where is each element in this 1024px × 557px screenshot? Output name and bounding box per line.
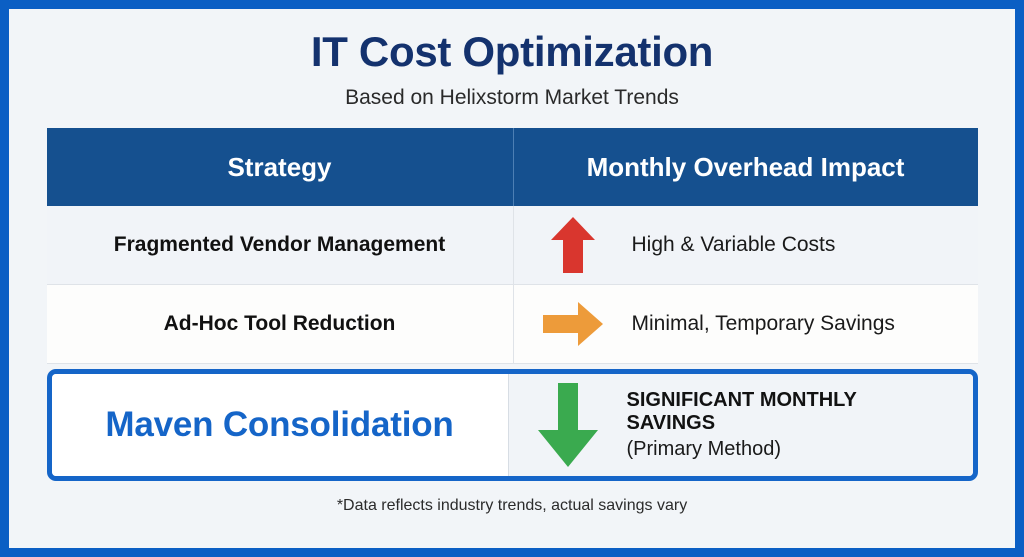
page-subtitle: Based on Helixstorm Market Trends <box>345 86 679 110</box>
row-cell-strategy: Fragmented Vendor Management <box>47 206 514 284</box>
header-cell-strategy: Strategy <box>47 128 514 206</box>
table-header-row: Strategy Monthly Overhead Impact <box>47 128 978 206</box>
impact-label: Minimal, Temporary Savings <box>632 312 895 336</box>
page-title: IT Cost Optimization <box>311 30 713 74</box>
impact-label: SIGNIFICANT MONTHLY SAVINGS <box>627 389 927 436</box>
table-row-highlighted: Maven Consolidation SIGNIFICANT MONTHLY … <box>47 369 978 481</box>
table-row: Ad-Hoc Tool Reduction Minimal, Temporary… <box>47 285 978 364</box>
row-cell-impact: SIGNIFICANT MONTHLY SAVINGS (Primary Met… <box>509 374 973 476</box>
arrow-down-icon <box>509 382 627 468</box>
strategy-label: Maven Consolidation <box>105 405 453 445</box>
table-row: Fragmented Vendor Management High & Vari… <box>47 206 978 285</box>
header-label-strategy: Strategy <box>227 152 331 183</box>
header-cell-impact: Monthly Overhead Impact <box>514 128 978 206</box>
strategy-label: Fragmented Vendor Management <box>114 233 445 257</box>
row-cell-strategy: Maven Consolidation <box>52 374 509 476</box>
impact-label: High & Variable Costs <box>632 233 836 257</box>
footnote: *Data reflects industry trends, actual s… <box>337 497 687 515</box>
impact-text-stack: SIGNIFICANT MONTHLY SAVINGS (Primary Met… <box>627 389 927 462</box>
row-cell-impact: Minimal, Temporary Savings <box>514 285 978 363</box>
impact-sublabel: (Primary Method) <box>627 438 927 462</box>
row-cell-strategy: Ad-Hoc Tool Reduction <box>47 285 514 363</box>
comparison-table: Strategy Monthly Overhead Impact Fragmen… <box>47 128 978 481</box>
strategy-label: Ad-Hoc Tool Reduction <box>164 312 396 336</box>
header-label-impact: Monthly Overhead Impact <box>587 152 905 183</box>
row-cell-impact: High & Variable Costs <box>514 206 978 284</box>
infographic-card: IT Cost Optimization Based on Helixstorm… <box>9 9 1015 548</box>
arrow-right-icon <box>514 301 632 347</box>
arrow-up-icon <box>514 216 632 274</box>
